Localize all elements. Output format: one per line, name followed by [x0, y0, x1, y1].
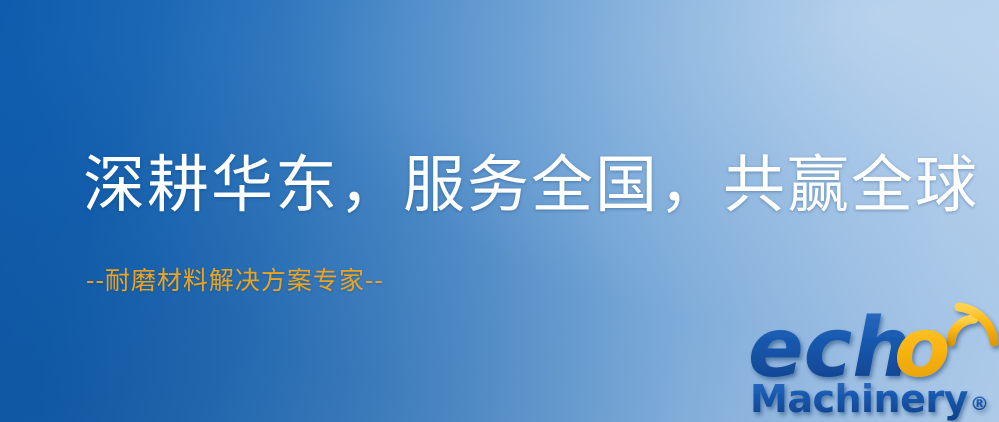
- hero-headline: 深耕华东，服务全国，共赢全球: [83, 152, 979, 218]
- registered-trademark-icon: ®: [970, 393, 989, 415]
- logo-tagline: Machinery: [750, 377, 969, 421]
- signal-arcs-icon: [951, 307, 994, 342]
- brand-logo[interactable]: ech o Machinery ®: [748, 298, 998, 420]
- hero-banner: 深耕华东，服务全国，共赢全球 --耐磨材料解决方案专家--: [0, 0, 999, 422]
- hero-subtitle: --耐磨材料解决方案专家--: [86, 266, 384, 296]
